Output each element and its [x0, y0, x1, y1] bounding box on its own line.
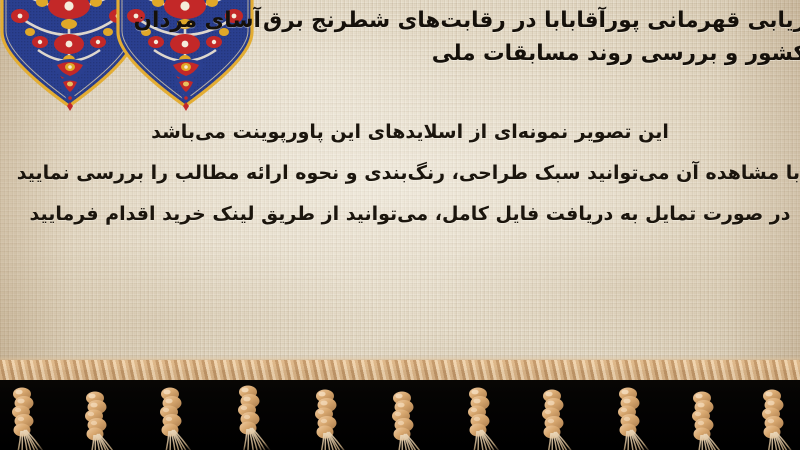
slide-canvas: زیابی قهرمانی پورآقابابا در رقابت‌های شط…: [0, 0, 800, 450]
slide-title-line-2: کشور و بررسی روند مسابقات ملی: [0, 37, 800, 70]
slide-title-line-1: زیابی قهرمانی پورآقابابا در رقابت‌های شط…: [0, 4, 800, 37]
body-text-line-3: در صورت تمایل به دریافت فایل کامل، می‌تو…: [20, 194, 800, 235]
body-text-line-1: این تصویر نمونه‌ای از اسلایدهای این پاور…: [20, 112, 800, 153]
carpet-knotted-fringe: [0, 354, 800, 450]
slide-body-text: این تصویر نمونه‌ای از اسلایدهای این پاور…: [20, 112, 800, 235]
fringe-tassel-group: [0, 366, 800, 450]
body-text-line-2: با مشاهده آن می‌توانید سبک طراحی، رنگ‌بن…: [20, 153, 800, 194]
slide-title: زیابی قهرمانی پورآقابابا در رقابت‌های شط…: [0, 4, 800, 70]
